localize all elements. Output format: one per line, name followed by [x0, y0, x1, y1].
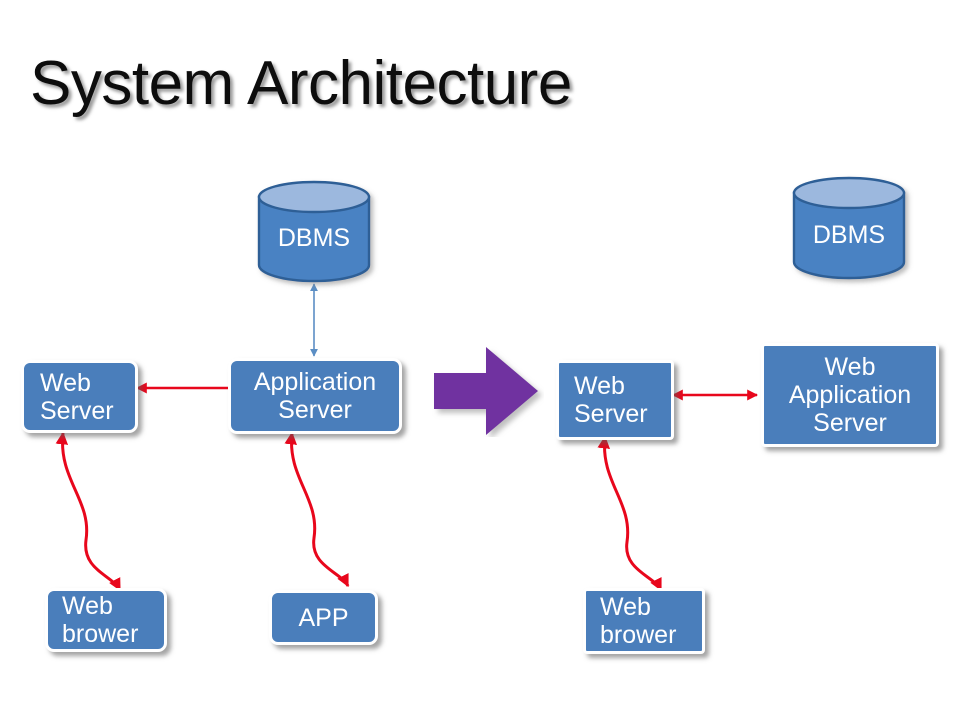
slide-canvas: System Architecture: [0, 0, 963, 717]
node-app[interactable]: APP: [269, 590, 378, 645]
cylinder-dbms-right: DBMS: [791, 176, 907, 280]
node-application-server[interactable]: Application Server: [228, 358, 402, 434]
cylinder-dbms-left: DBMS: [256, 180, 372, 282]
cylinder-label-dbms-right: DBMS: [791, 176, 907, 280]
node-web-server-left[interactable]: Web Server: [21, 360, 138, 433]
node-web-browser-right[interactable]: Web brower: [583, 588, 705, 654]
connector-webserver-browser-left: [62, 433, 120, 590]
node-web-server-right[interactable]: Web Server: [556, 360, 674, 440]
cylinder-label-dbms-left: DBMS: [256, 180, 372, 282]
connector-appserver-app: [291, 433, 348, 586]
node-web-browser-left[interactable]: Web brower: [45, 588, 167, 652]
connector-webserver-browser-right: [604, 437, 661, 590]
node-web-application-server[interactable]: Web Application Server: [761, 343, 939, 447]
transition-arrow-icon: [432, 345, 544, 437]
page-title: System Architecture: [30, 48, 572, 119]
